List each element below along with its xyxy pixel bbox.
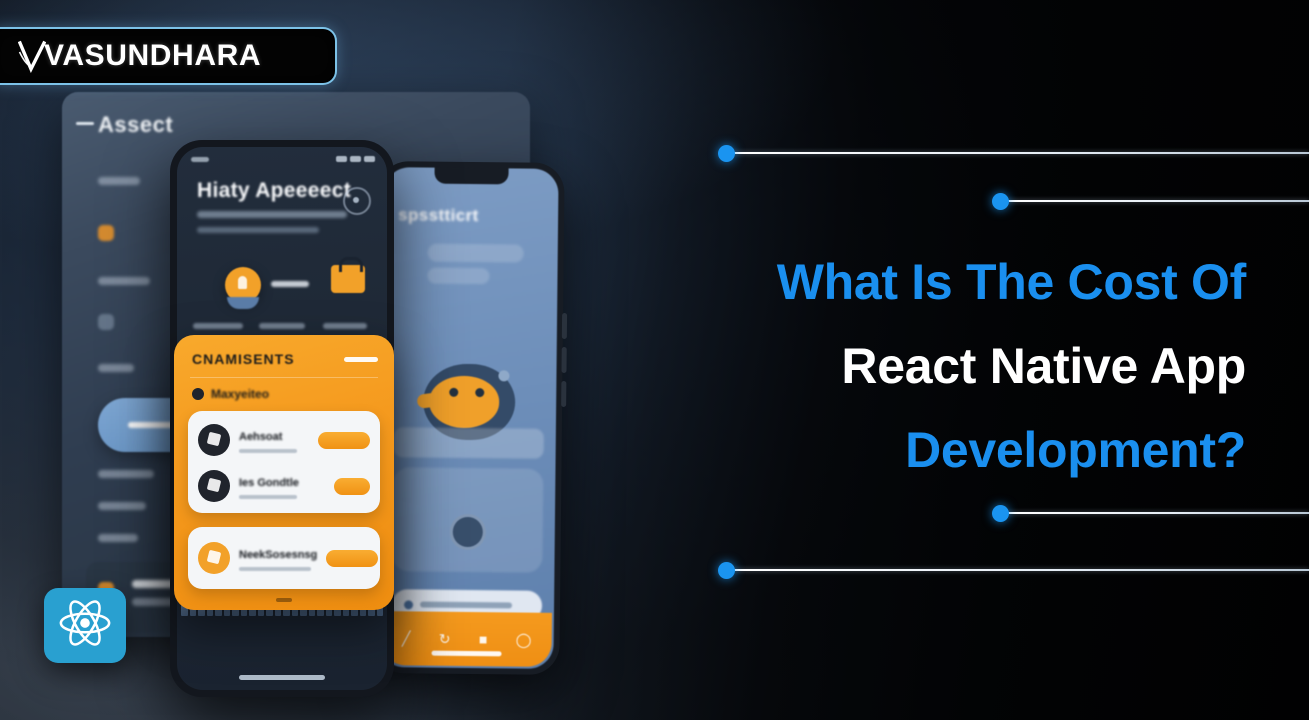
connector-line-3 [1006, 512, 1309, 514]
connector-dot-icon [992, 505, 1009, 522]
headline-line-2: React Native App [606, 324, 1246, 408]
connector-dot-icon [718, 145, 735, 162]
react-badge [44, 588, 126, 663]
headline-block: What Is The Cost Of React Native App Dev… [606, 240, 1246, 492]
brand-logo-inner: VASUNDHARA [18, 39, 261, 73]
connector-line-2 [1006, 200, 1309, 202]
poster-canvas: Assect sp [0, 0, 1309, 720]
connector-line-4 [732, 569, 1309, 571]
brand-name: VASUNDHARA [44, 41, 261, 71]
headline-line-3: Development? [606, 408, 1246, 492]
connector-dot-icon [718, 562, 735, 579]
connector-line-1 [732, 152, 1309, 154]
brand-logo-banner[interactable]: VASUNDHARA [0, 27, 337, 85]
connector-dot-icon [992, 193, 1009, 210]
react-atom-icon [57, 597, 113, 654]
headline-line-1: What Is The Cost Of [606, 240, 1246, 324]
check-swoosh-icon [18, 39, 46, 73]
